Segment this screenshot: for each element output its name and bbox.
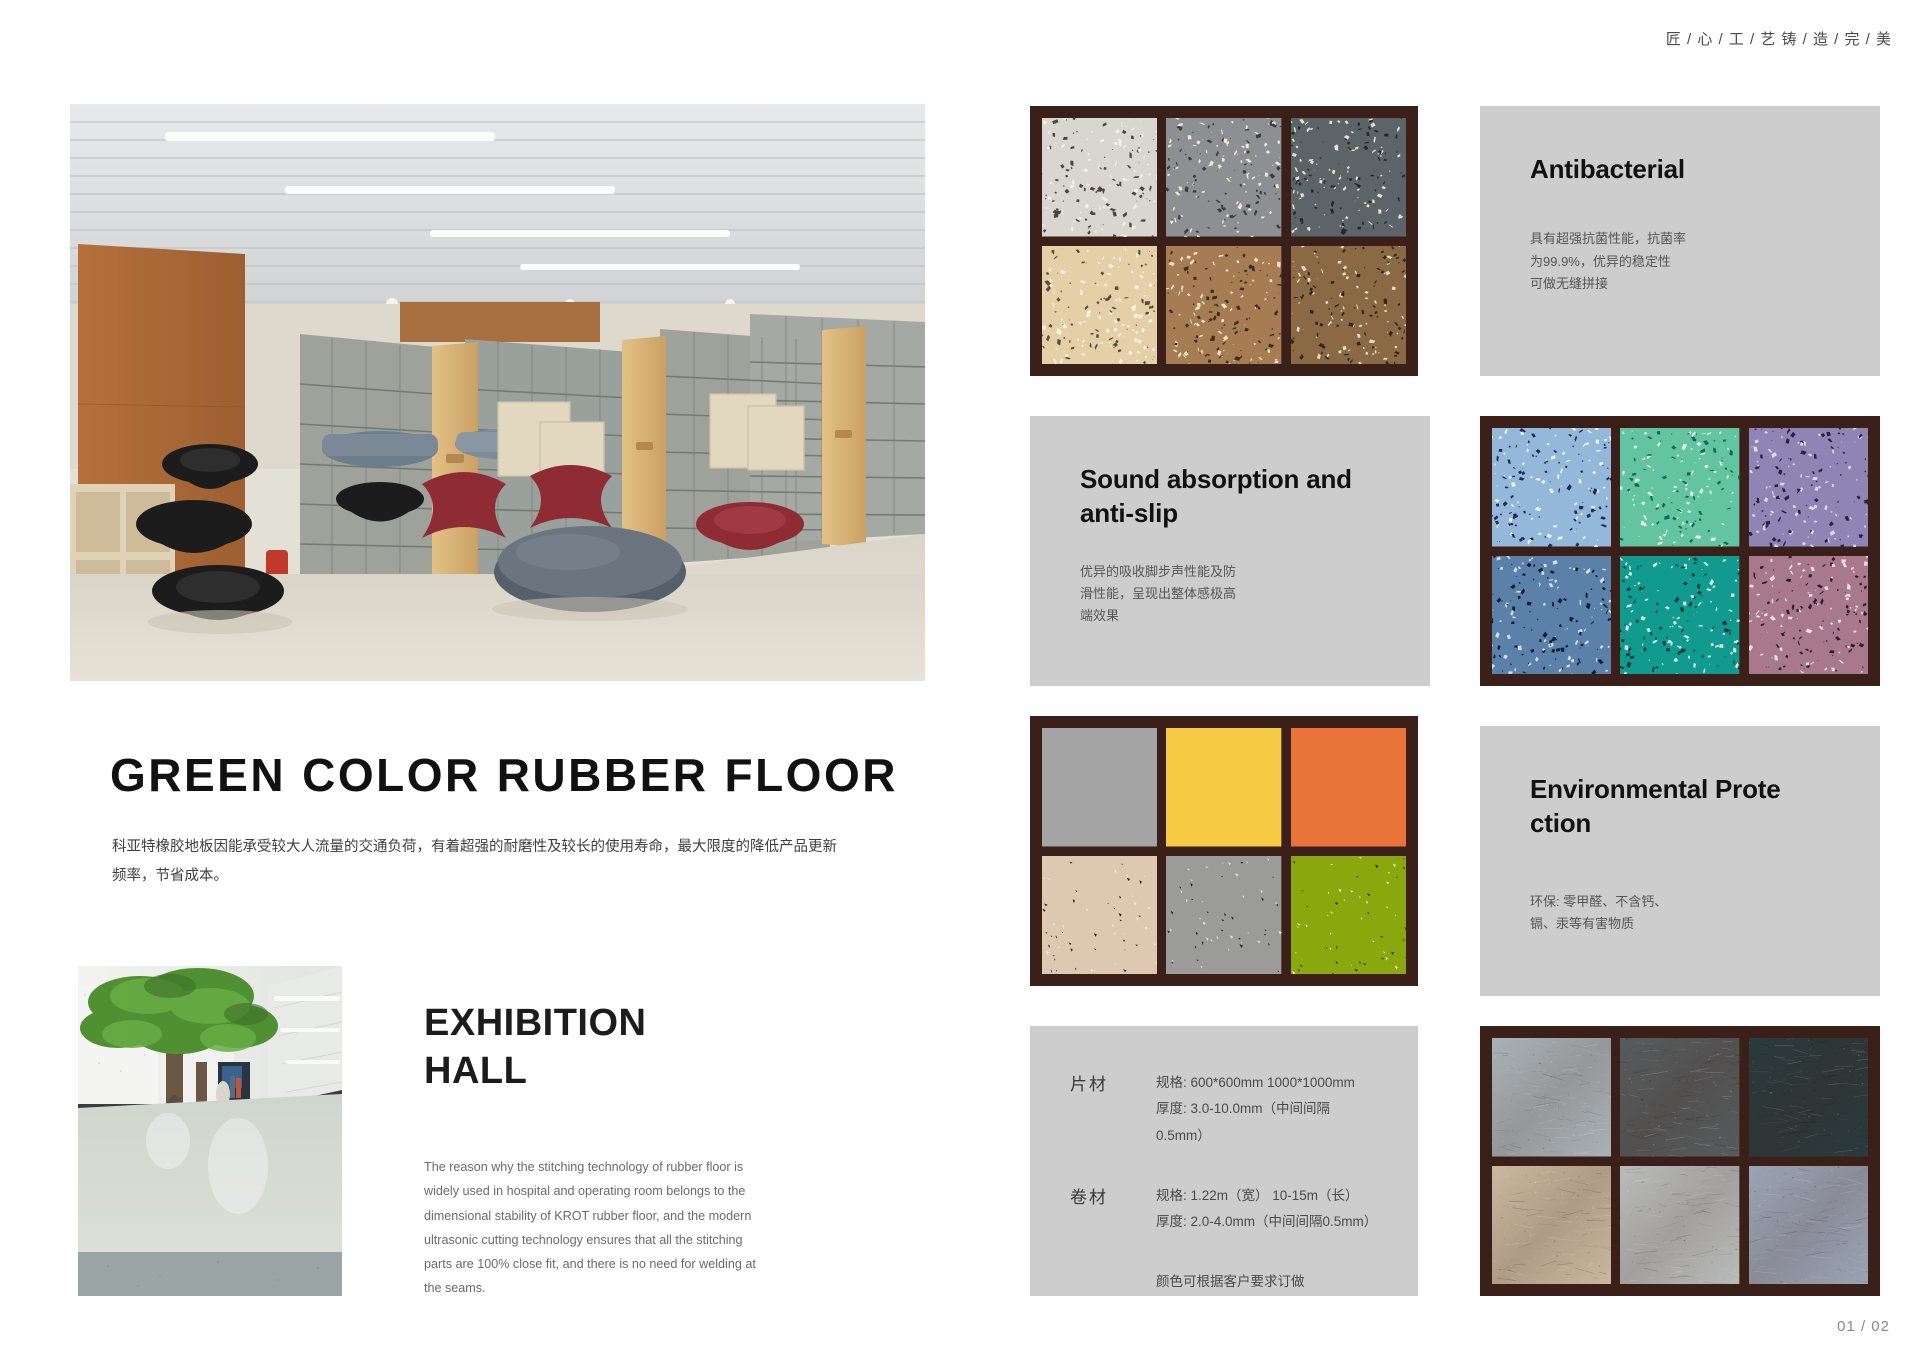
- swatch-tile-solid-grey[interactable]: [1042, 728, 1157, 847]
- swatch-tile-speckled-grey[interactable]: [1166, 856, 1281, 975]
- exhibition-hall-photo: [78, 966, 342, 1296]
- brochure-page: 匠 / 心 / 工 / 艺 铸 / 造 / 完 / 美: [0, 0, 1920, 1357]
- swatch-tile-speckled-beige[interactable]: [1042, 856, 1157, 975]
- swatch-tile-steel-blue[interactable]: [1492, 556, 1611, 675]
- exhibition-paragraph-en: The reason why the stitching technology …: [424, 1155, 764, 1301]
- page-title: GREENCOLORRUBBERFLOOR: [110, 748, 898, 802]
- swatch-tile-beige[interactable]: [1492, 1166, 1611, 1285]
- swatch-tile-mint-green[interactable]: [1620, 428, 1739, 547]
- swatch-tile-cream-tan[interactable]: [1042, 246, 1157, 365]
- feature-panel-environmental: Environmental Prote ction 环保: 零甲醛、不含钙、 镉…: [1480, 726, 1880, 996]
- exhibition-hall-title: EXHIBITIONHALL: [424, 1000, 646, 1095]
- spec-values: 规格: 1.22m（宽） 10-15m（长）厚度: 2.0-4.0mm（中间间隔…: [1156, 1183, 1377, 1236]
- exhibition-hall-title-text: EXHIBITIONHALL: [424, 1002, 646, 1092]
- swatch-tile-dark-brown[interactable]: [1291, 246, 1406, 365]
- swatch-tile-blue-grey[interactable]: [1749, 1166, 1868, 1285]
- swatch-tile-mauve-pink[interactable]: [1749, 556, 1868, 675]
- feature-title-sound-absorption: Sound absorption and anti-slip: [1080, 462, 1380, 531]
- swatch-tile-dark-teal[interactable]: [1749, 1038, 1868, 1157]
- spec-note: 颜色可根据客户要求订做: [1070, 1270, 1378, 1290]
- feature-body-sound-absorption: 优异的吸收脚步声性能及防 滑性能，呈现出整体感极高 端效果: [1080, 561, 1380, 628]
- swatch-tile-solid-orange[interactable]: [1291, 728, 1406, 847]
- swatch-group-terrazzo-color: [1480, 416, 1880, 686]
- feature-body-environmental: 环保: 零甲醛、不含钙、 镉、汞等有害物质: [1530, 891, 1830, 936]
- spec-values: 规格: 600*600mm 1000*1000mm厚度: 3.0-10.0mm（…: [1156, 1070, 1378, 1149]
- spec-line: 厚度: 3.0-10.0mm（中间间隔0.5mm）: [1156, 1096, 1378, 1149]
- library-interior-photo: [70, 104, 925, 681]
- feature-title-antibacterial: Antibacterial: [1530, 152, 1830, 186]
- intro-paragraph-cn: 科亚特橡胶地板因能承受较大人流量的交通负荷，有着超强的耐磨性及较长的使用寿命，最…: [112, 833, 842, 891]
- specifications-panel: 片材规格: 600*600mm 1000*1000mm厚度: 3.0-10.0m…: [1030, 1026, 1418, 1296]
- swatch-tile-mid-brown[interactable]: [1166, 246, 1281, 365]
- header-tagline: 匠 / 心 / 工 / 艺 铸 / 造 / 完 / 美: [1666, 28, 1892, 49]
- swatch-tile-olive-green[interactable]: [1291, 856, 1406, 975]
- spec-row: 片材规格: 600*600mm 1000*1000mm厚度: 3.0-10.0m…: [1070, 1070, 1378, 1149]
- spec-label: 片材: [1070, 1070, 1156, 1095]
- swatch-tile-dark-slate[interactable]: [1291, 118, 1406, 237]
- spec-row: 卷材规格: 1.22m（宽） 10-15m（长）厚度: 2.0-4.0mm（中间…: [1070, 1183, 1378, 1236]
- swatch-group-solid-and-speckled: [1030, 716, 1418, 986]
- feature-body-antibacterial: 具有超强抗菌性能，抗菌率 为99.9%，优异的稳定性 可做无缝拼接: [1530, 228, 1830, 295]
- swatch-group-terrazzo-neutral: [1030, 106, 1418, 376]
- swatch-tile-solid-yellow[interactable]: [1166, 728, 1281, 847]
- swatch-group-slate-texture: [1480, 1026, 1880, 1296]
- spec-line: 规格: 1.22m（宽） 10-15m（长）: [1156, 1183, 1377, 1209]
- swatch-tile-pale-grey[interactable]: [1620, 1166, 1739, 1285]
- swatch-tile-light-grey[interactable]: [1042, 118, 1157, 237]
- feature-panel-sound-absorption: Sound absorption and anti-slip 优异的吸收脚步声性…: [1030, 416, 1430, 686]
- page-number: 01 / 02: [1837, 1318, 1890, 1335]
- spec-line: 厚度: 2.0-4.0mm（中间间隔0.5mm）: [1156, 1209, 1377, 1235]
- swatch-tile-light-blue[interactable]: [1492, 428, 1611, 547]
- swatch-tile-medium-grey[interactable]: [1166, 118, 1281, 237]
- swatch-tile-purple[interactable]: [1749, 428, 1868, 547]
- swatch-tile-light-grey-blue[interactable]: [1492, 1038, 1611, 1157]
- feature-panel-antibacterial: Antibacterial 具有超强抗菌性能，抗菌率 为99.9%，优异的稳定性…: [1480, 106, 1880, 376]
- swatch-tile-dark-grey[interactable]: [1620, 1038, 1739, 1157]
- feature-title-environmental: Environmental Prote ction: [1530, 772, 1830, 841]
- spec-line: 规格: 600*600mm 1000*1000mm: [1156, 1070, 1378, 1096]
- swatch-tile-teal[interactable]: [1620, 556, 1739, 675]
- spec-label: 卷材: [1070, 1183, 1156, 1208]
